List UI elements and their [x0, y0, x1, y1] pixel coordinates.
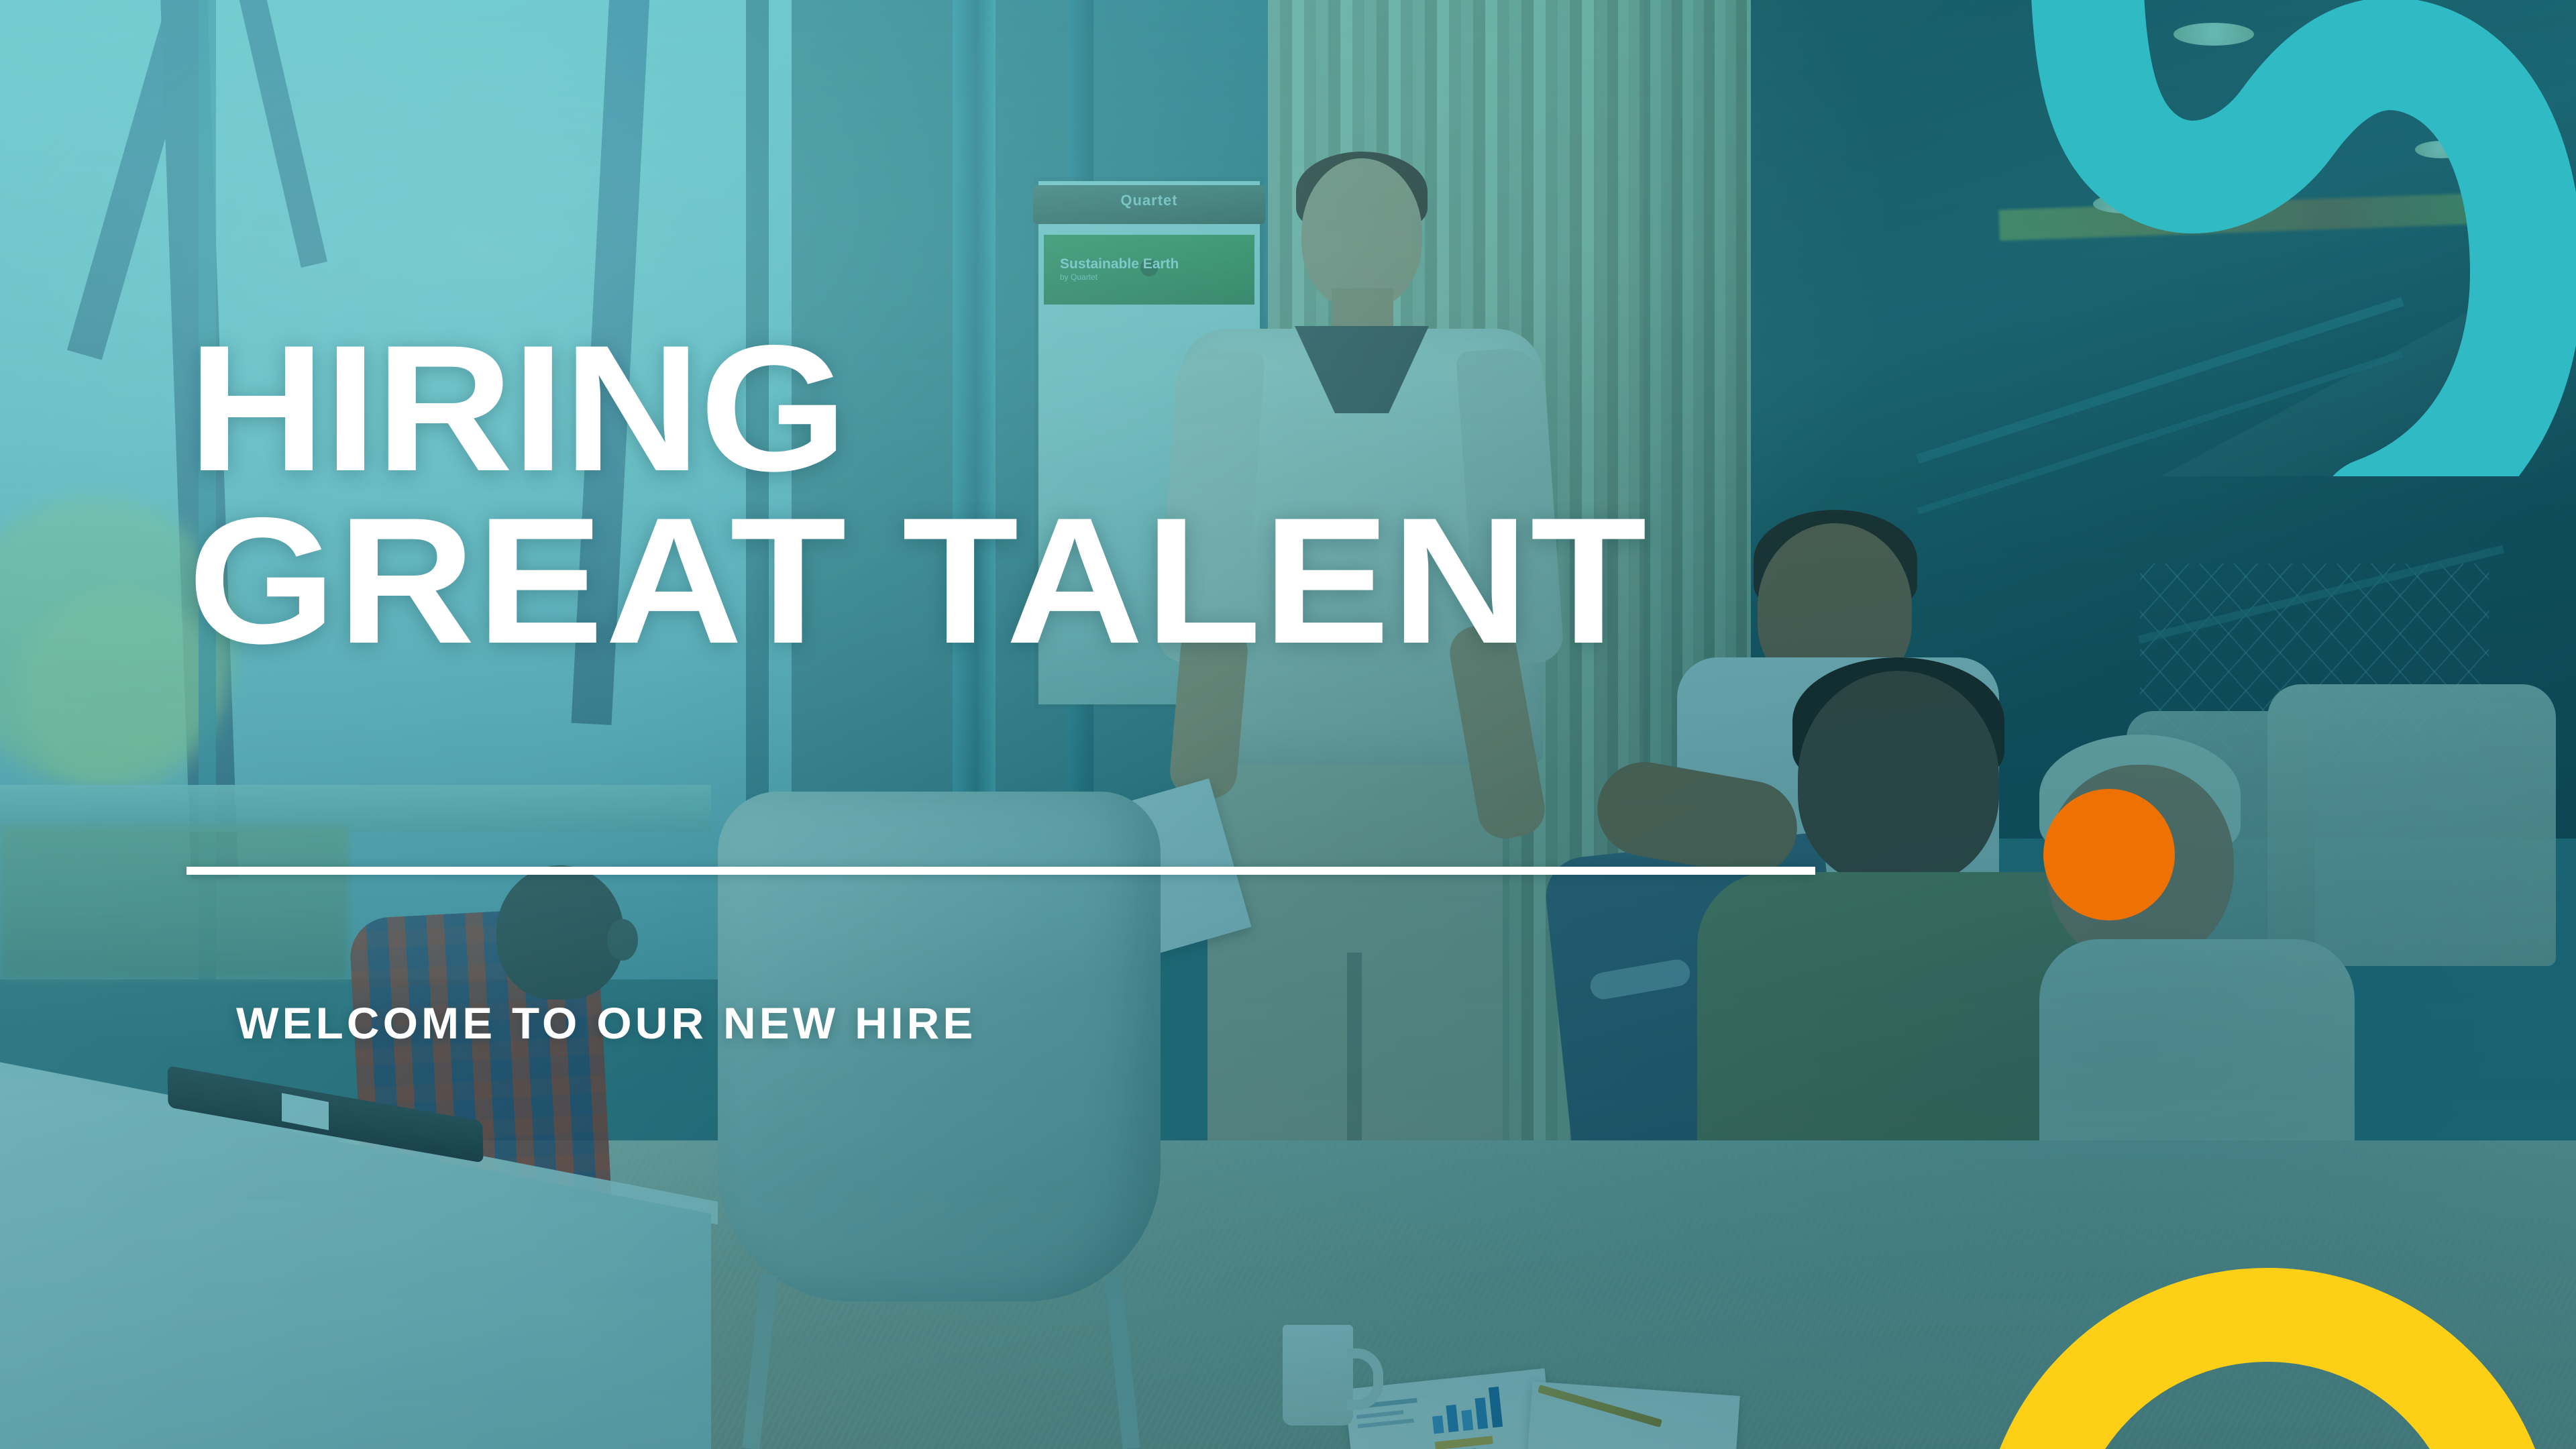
title-divider-rule [186, 867, 1815, 875]
page-title: HIRING GREAT TALENT [188, 322, 2037, 667]
headline-line-1: HIRING [188, 322, 2037, 494]
banner-subtitle: WELCOME TO OUR NEW HIRE [236, 998, 976, 1049]
hiring-banner: Quartet Sustainable Earth by Quartet [0, 0, 2576, 1449]
headline-line-2: GREAT TALENT [188, 494, 2037, 667]
banner-content: HIRING GREAT TALENT WELCOME TO OUR NEW H… [0, 0, 2576, 1449]
